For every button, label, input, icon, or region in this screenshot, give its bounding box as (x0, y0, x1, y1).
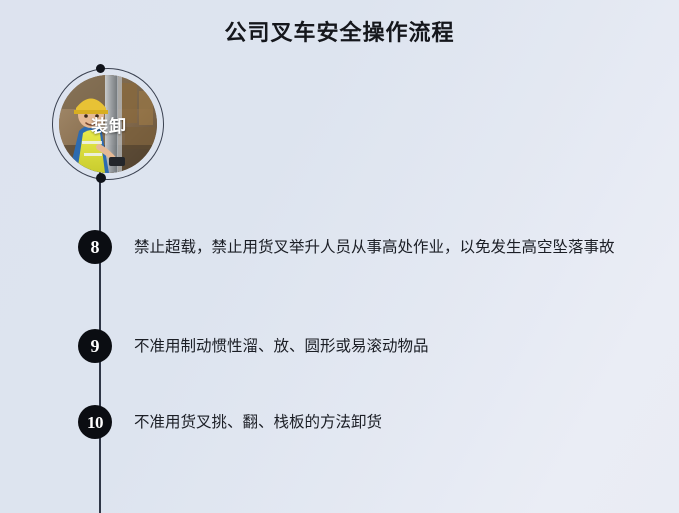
step-number-badge: 9 (78, 329, 112, 363)
step-text: 不准用制动惯性溜、放、圆形或易滚动物品 (134, 331, 654, 362)
photo-node-label: 装卸 (52, 112, 166, 137)
photo-node[interactable]: 装卸 (52, 68, 166, 182)
step-number-badge: 10 (78, 405, 112, 439)
photo-ring-dot-bottom (96, 173, 106, 183)
step-text: 禁止超载，禁止用货叉举升人员从事高处作业，以免发生高空坠落事故 (134, 232, 654, 263)
slide-canvas: 公司叉车安全操作流程 (0, 0, 679, 513)
step-text: 不准用货叉挑、翻、栈板的方法卸货 (134, 407, 654, 438)
page-title: 公司叉车安全操作流程 (0, 18, 679, 48)
photo-ring-dot-top (96, 64, 105, 73)
step-number-badge: 8 (78, 230, 112, 264)
